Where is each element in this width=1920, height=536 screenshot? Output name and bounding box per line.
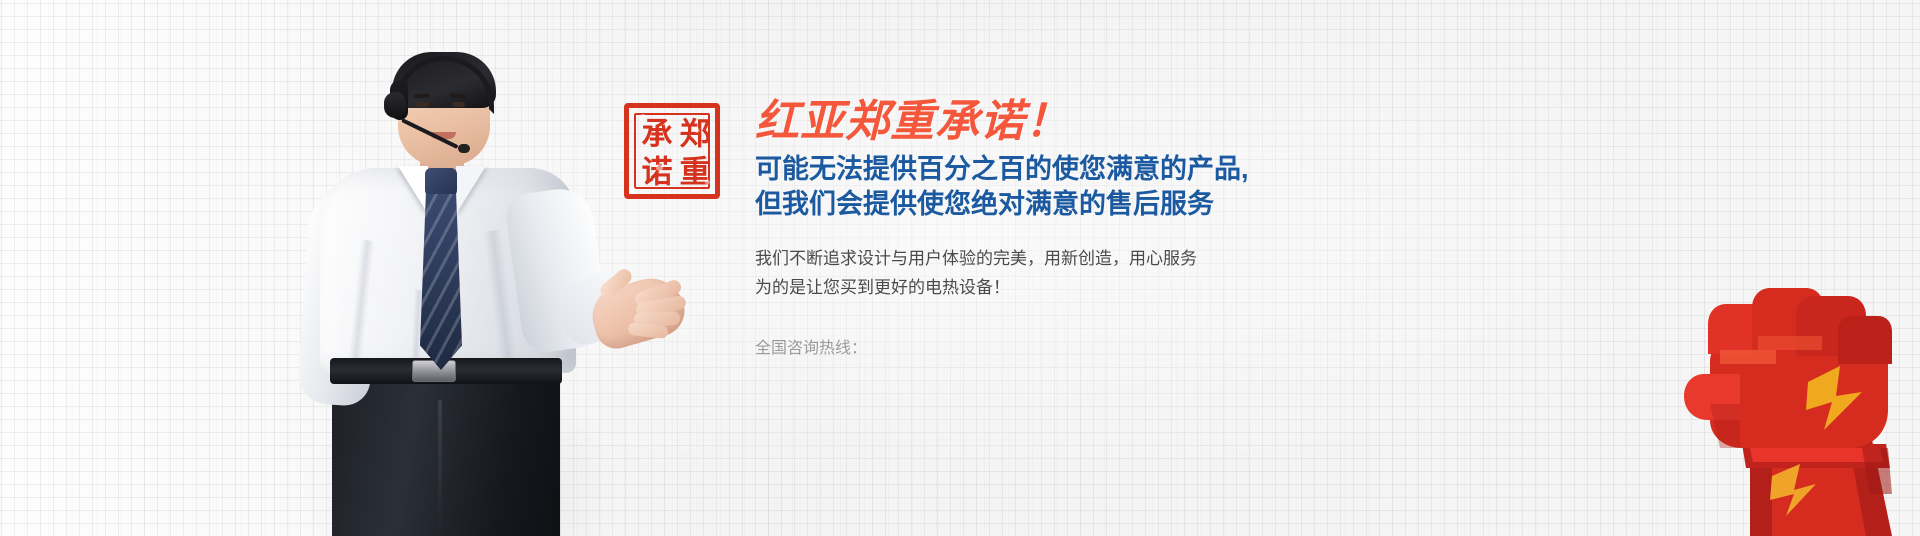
banner-subtitle-line-1: 可能无法提供百分之百的使您满意的产品,: [755, 152, 1315, 187]
seal-char-1: 承: [634, 113, 672, 151]
person-collar-right: [456, 166, 486, 214]
seal-char-3: 诺: [634, 151, 672, 189]
hotline-label: 全国咨询热线：: [755, 334, 1315, 358]
seal-characters: 承 郑 诺 重: [634, 113, 710, 189]
headset-earcup-icon: [384, 92, 406, 118]
red-seal-stamp: 承 郑 诺 重: [624, 103, 720, 199]
banner-headline: 红亚郑重承诺！: [755, 98, 1315, 146]
person-trouser-seam: [438, 400, 442, 536]
promo-banner: 承 郑 诺 重 红亚郑重承诺！ 可能无法提供百分之百的使您满意的产品, 但我们会…: [0, 0, 1920, 536]
seal-char-4: 重: [672, 151, 710, 189]
person-collar-left: [398, 166, 428, 214]
person-belt-buckle: [412, 360, 456, 382]
headset-microphone-icon: [458, 144, 470, 153]
banner-copy-block: 红亚郑重承诺！ 可能无法提供百分之百的使您满意的产品, 但我们会提供使您绝对满意…: [755, 98, 1315, 358]
banner-subtitle-line-2: 但我们会提供使您绝对满意的售后服务: [755, 187, 1315, 222]
person-tie-knot: [425, 168, 457, 198]
seal-char-2: 郑: [672, 113, 710, 151]
person-necktie: [420, 194, 462, 370]
banner-body-line-2: 为的是让您买到更好的电热设备！: [755, 273, 1315, 302]
raised-fist-graphic: [1600, 244, 1920, 536]
banner-body-line-1: 我们不断追求设计与用户体验的完美，用新创造，用心服务: [755, 244, 1315, 273]
